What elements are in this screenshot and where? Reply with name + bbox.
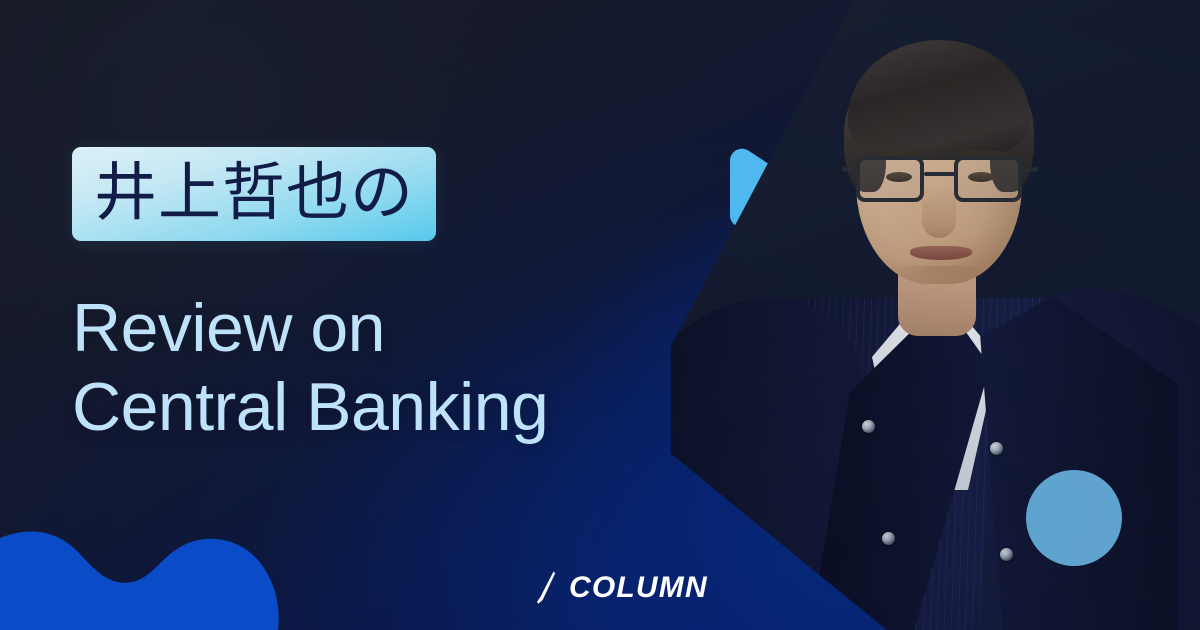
column-logo: COLUMN xyxy=(534,570,708,606)
page-title: Review on Central Banking xyxy=(72,289,692,447)
hero-banner: 井上哲也の Review on Central Banking COLUMN xyxy=(0,0,1200,630)
artwork-cluster xyxy=(640,0,1200,630)
pen-nib-icon xyxy=(534,570,556,606)
portrait-tint-overlay xyxy=(660,0,1200,630)
series-badge-label: 井上哲也の xyxy=(94,161,414,225)
portrait-photo xyxy=(660,0,1200,630)
circle-decoration xyxy=(1026,470,1122,566)
series-badge: 井上哲也の xyxy=(72,147,436,241)
logo-wordmark: COLUMN xyxy=(569,571,708,605)
portrait-image xyxy=(660,0,1200,630)
headline-block: 井上哲也の Review on Central Banking xyxy=(72,147,692,447)
wave-blob-decoration xyxy=(0,520,300,630)
